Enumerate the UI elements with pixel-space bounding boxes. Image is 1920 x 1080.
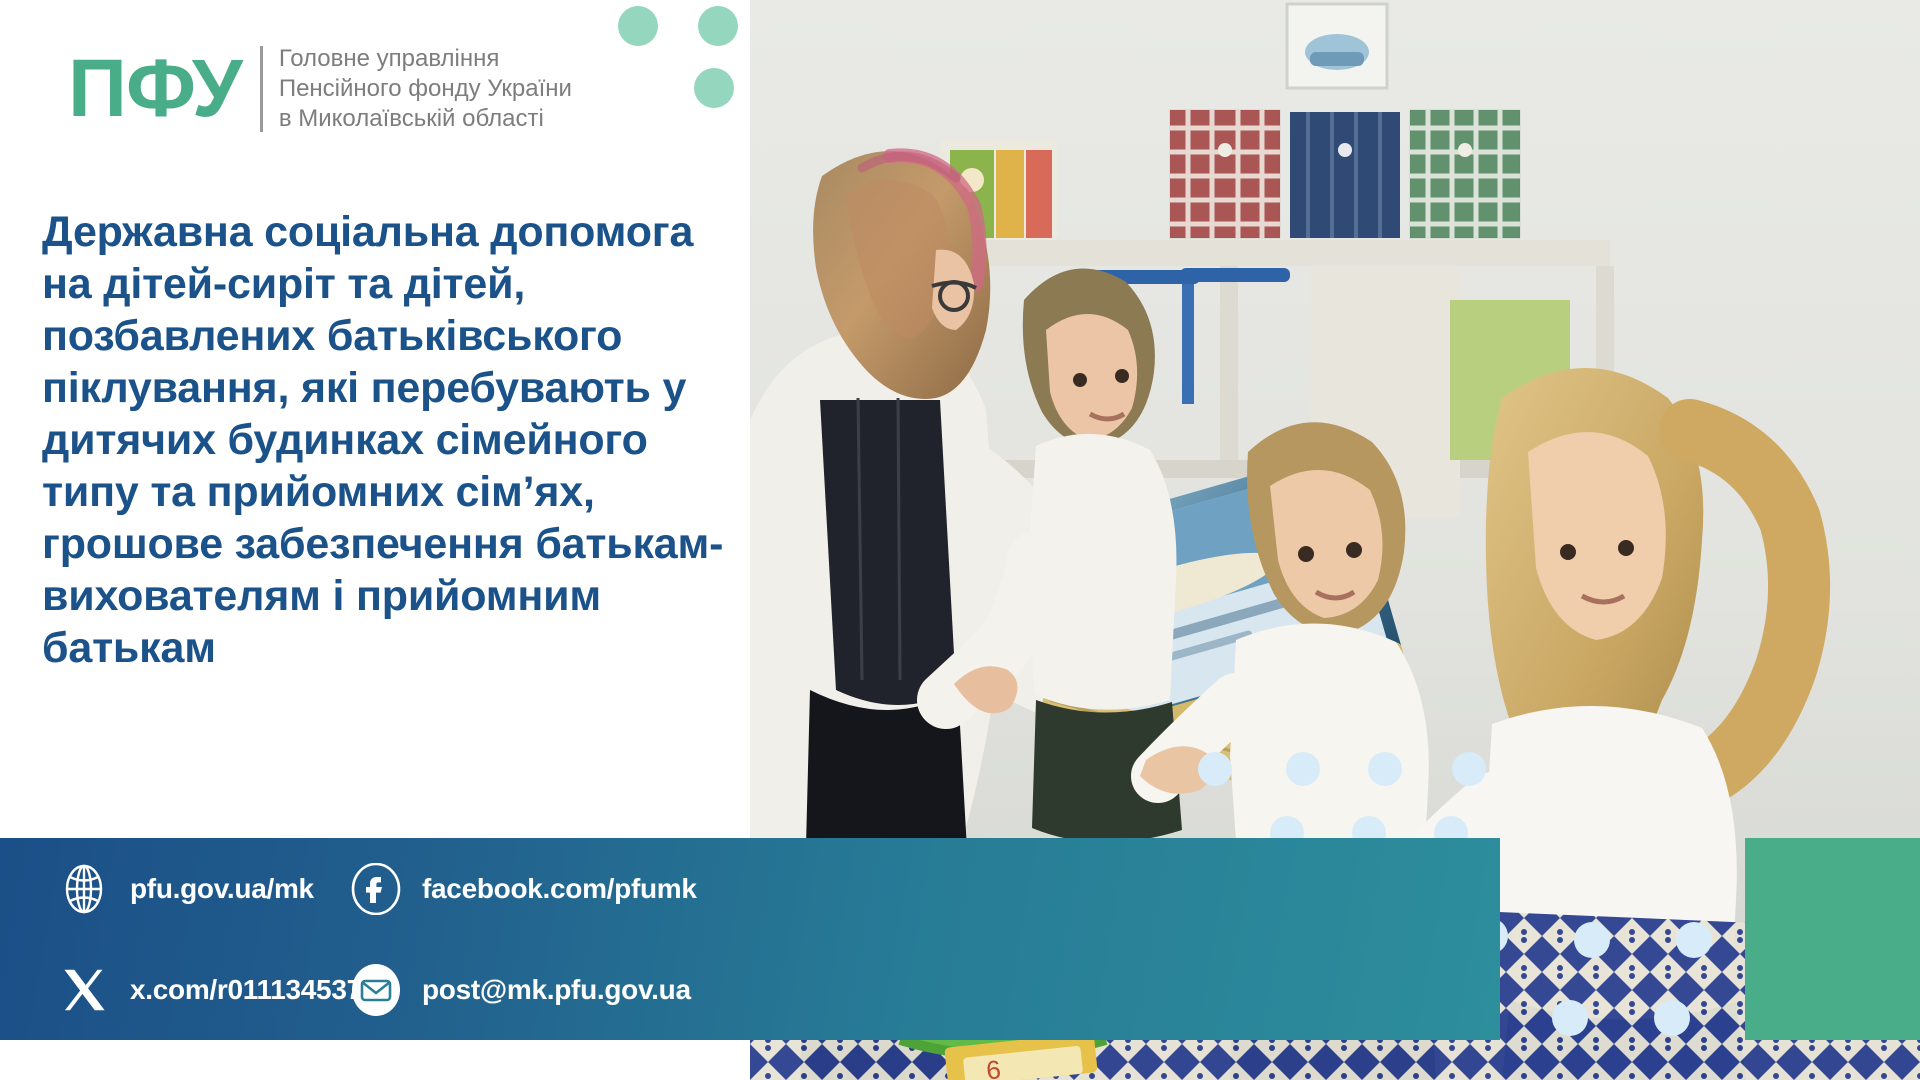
contact-facebook[interactable]: facebook.com/pfumk (330, 863, 760, 915)
page-title: Державна соціальна допомога на дітей-сир… (42, 206, 732, 674)
decor-dot (1676, 922, 1712, 958)
contact-x-twitter[interactable]: x.com/r0111345373 (0, 964, 330, 1016)
x-twitter-icon (58, 964, 110, 1016)
contact-list: pfu.gov.ua/mk facebook.com/pfumk x.com/r… (0, 838, 760, 1040)
contact-website-label: pfu.gov.ua/mk (130, 873, 314, 905)
email-icon (350, 964, 402, 1016)
org-line-3: в Миколаївській області (279, 104, 572, 134)
decor-dot (694, 68, 734, 108)
contact-email[interactable]: post@mk.pfu.gov.ua (330, 964, 760, 1016)
decor-dot (1368, 752, 1402, 786)
decor-dot (1574, 922, 1610, 958)
decor-dot (1198, 752, 1232, 786)
poster-canvas: ПФУ Головне управління Пенсійного фонду … (0, 0, 1920, 1080)
facebook-icon (350, 863, 402, 915)
decor-dot (1452, 752, 1486, 786)
contact-website[interactable]: pfu.gov.ua/mk (0, 863, 330, 915)
decor-dot (1654, 1000, 1690, 1036)
decor-dot (618, 6, 658, 46)
decor-dot (1286, 752, 1320, 786)
organization-name: Головне управління Пенсійного фонду Укра… (279, 44, 572, 134)
decor-dot (698, 6, 738, 46)
contact-facebook-label: facebook.com/pfumk (422, 873, 697, 905)
organization-logo: ПФУ Головне управління Пенсійного фонду … (68, 44, 572, 134)
org-line-1: Головне управління (279, 44, 572, 74)
contact-email-label: post@mk.pfu.gov.ua (422, 974, 691, 1006)
globe-icon (58, 863, 110, 915)
org-line-2: Пенсійного фонду України (279, 74, 572, 104)
logo-divider (260, 46, 263, 132)
decor-dot (1552, 1000, 1588, 1036)
logo-mark-pfu: ПФУ (68, 49, 242, 129)
footer-green-block (1745, 838, 1920, 1040)
